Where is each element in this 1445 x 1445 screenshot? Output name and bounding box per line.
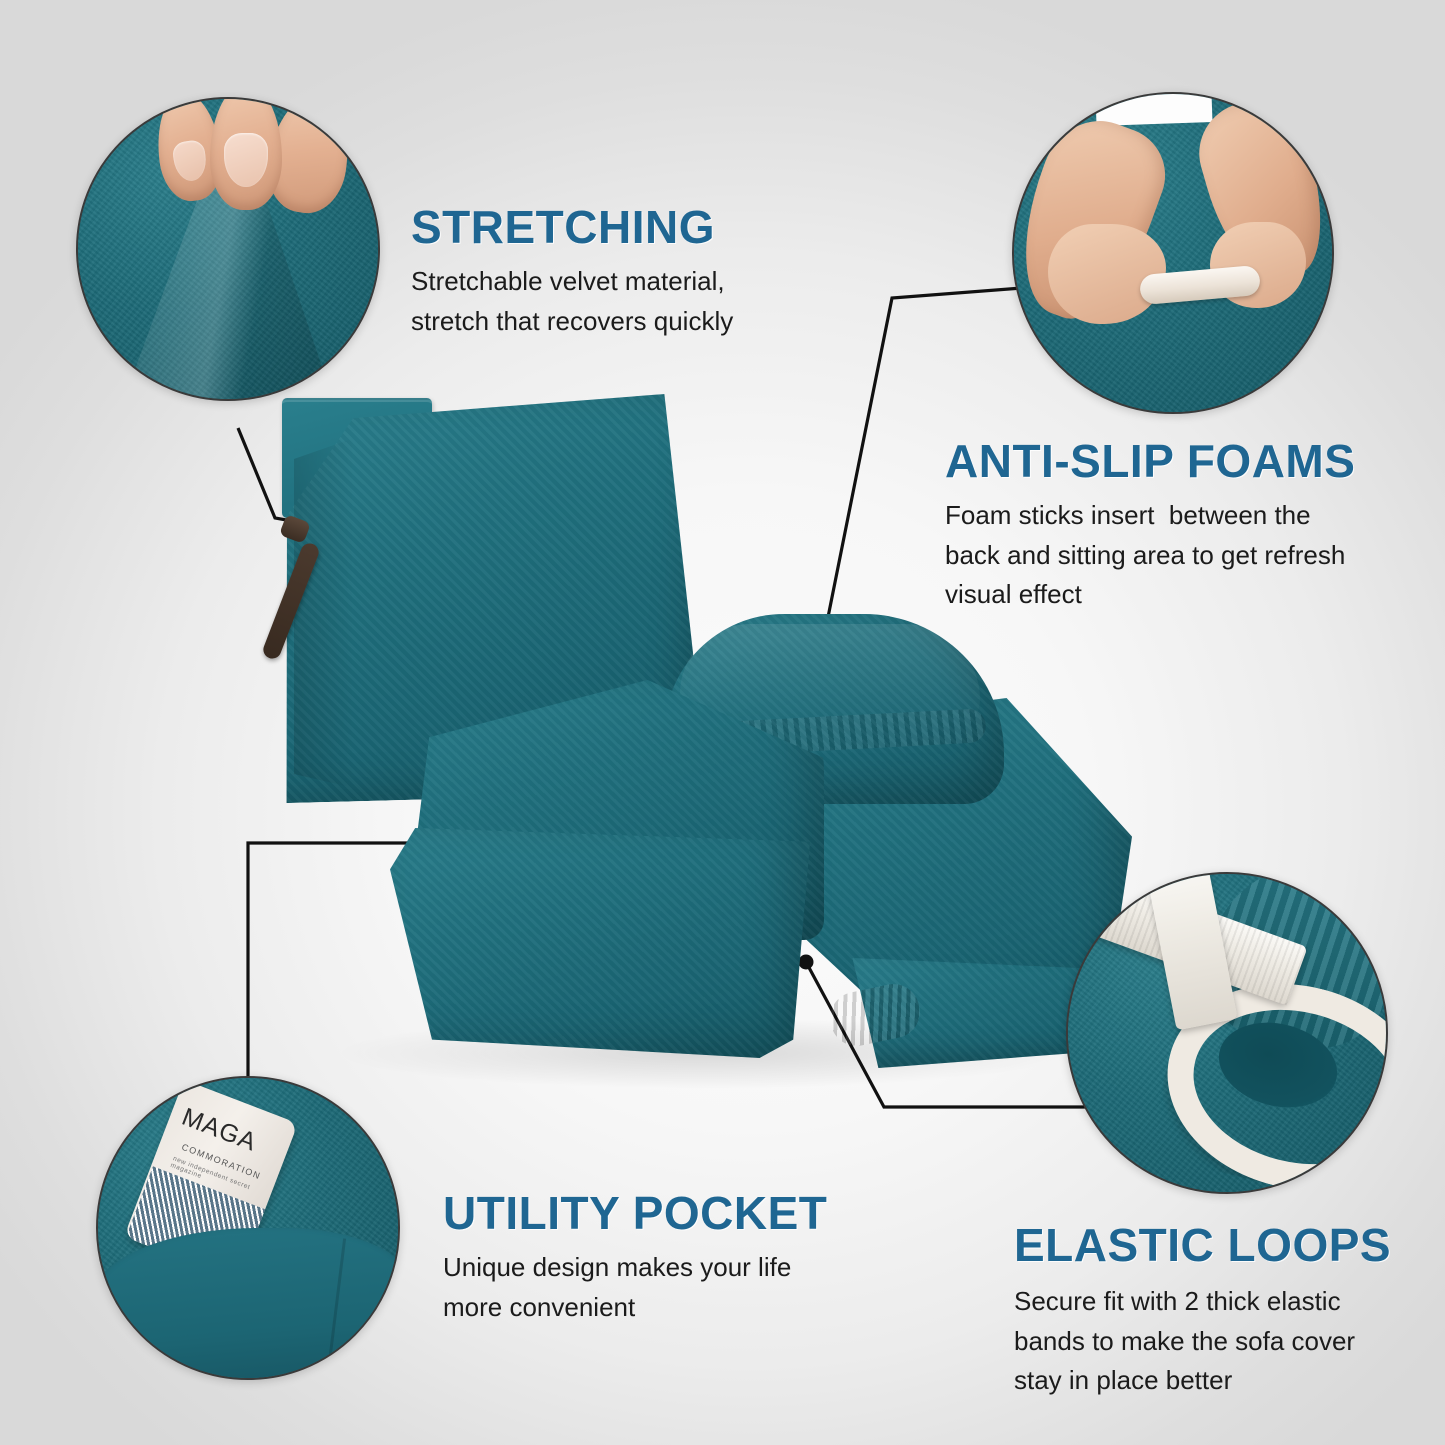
feature-body-line: more convenient bbox=[443, 1288, 827, 1328]
feature-body-anti-slip-foams: Foam sticks insert between the back and … bbox=[945, 496, 1355, 615]
feature-body-line: Foam sticks insert between the bbox=[945, 496, 1355, 536]
infographic-canvas: MAGA COMMORATION new independent secret … bbox=[0, 0, 1445, 1445]
feature-body-elastic-loops: Secure fit with 2 thick elastic bands to… bbox=[1014, 1282, 1391, 1401]
inset-photo-anti-slip-foams bbox=[1012, 92, 1334, 414]
feature-title-elastic-loops: ELASTIC LOOPS bbox=[1014, 1222, 1391, 1268]
feature-body-line: Stretchable velvet material, bbox=[411, 262, 733, 302]
feature-stretching: STRETCHING Stretchable velvet material, … bbox=[411, 204, 733, 341]
feature-elastic-loops: ELASTIC LOOPS Secure fit with 2 thick el… bbox=[1014, 1222, 1391, 1401]
feature-body-line: Secure fit with 2 thick elastic bbox=[1014, 1282, 1391, 1322]
feature-body-line: back and sitting area to get refresh bbox=[945, 536, 1355, 576]
feature-body-stretching: Stretchable velvet material, stretch tha… bbox=[411, 262, 733, 341]
inset-photo-elastic-loops bbox=[1066, 872, 1388, 1194]
white-background-tab bbox=[1096, 92, 1213, 126]
feature-title-stretching: STRETCHING bbox=[411, 204, 733, 250]
feature-title-anti-slip-foams: ANTI-SLIP FOAMS bbox=[945, 438, 1355, 484]
feature-utility-pocket: UTILITY POCKET Unique design makes your … bbox=[443, 1190, 827, 1327]
inset-photo-utility-pocket: MAGA COMMORATION new independent secret … bbox=[96, 1076, 400, 1380]
chair-footrest-end bbox=[842, 958, 1102, 1068]
feature-body-line: bands to make the sofa cover bbox=[1014, 1322, 1391, 1362]
feature-body-line: stretch that recovers quickly bbox=[411, 302, 733, 342]
feature-body-line: Unique design makes your life bbox=[443, 1248, 827, 1288]
feature-anti-slip-foams: ANTI-SLIP FOAMS Foam sticks insert betwe… bbox=[945, 438, 1355, 615]
feature-title-utility-pocket: UTILITY POCKET bbox=[443, 1190, 827, 1236]
feature-body-line: stay in place better bbox=[1014, 1361, 1391, 1401]
pocket-flap bbox=[96, 1228, 400, 1380]
chair-side-skirt bbox=[390, 828, 810, 1058]
feature-body-line: visual effect bbox=[945, 575, 1355, 615]
inset-photo-stretching bbox=[76, 97, 380, 401]
feature-body-utility-pocket: Unique design makes your life more conve… bbox=[443, 1248, 827, 1327]
